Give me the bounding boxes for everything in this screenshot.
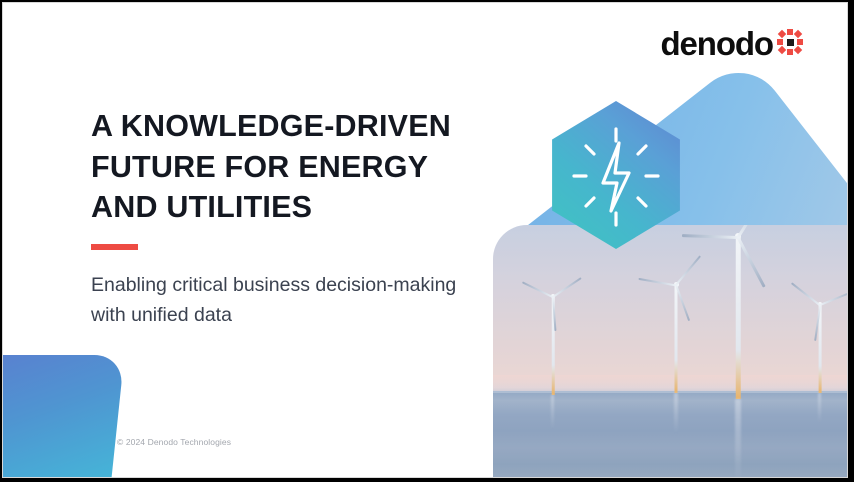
lightning-bolt-icon [548,101,684,249]
wind-turbine [523,295,583,395]
corner-decoration-shape [2,355,124,478]
presentation-slide: denodo A KNOWLEDGE-DRIVEN FUTURE FOR ENE… [0,0,854,482]
turbine-reflection [818,393,821,423]
slide-subtitle: Enabling critical business decision-maki… [91,271,491,330]
denodo-dot-mark-icon [777,29,803,55]
energy-badge [548,101,684,249]
accent-divider [91,244,138,250]
slide-canvas: denodo A KNOWLEDGE-DRIVEN FUTURE FOR ENE… [2,2,848,478]
logo-wordmark: denodo [660,27,773,60]
turbine-reflection [735,399,741,478]
wind-farm-photo [493,225,848,478]
wind-turbine [643,283,709,393]
turbine-reflection [674,393,678,433]
slide-headline: A KNOWLEDGE-DRIVEN FUTURE FOR ENERGY AND… [91,106,501,228]
copyright-notice: © 2024 Denodo Technologies [117,437,231,447]
sea-surface [493,391,848,478]
wind-turbine [788,303,848,393]
denodo-logo: denodo [660,27,803,60]
turbine-reflection [551,395,554,429]
